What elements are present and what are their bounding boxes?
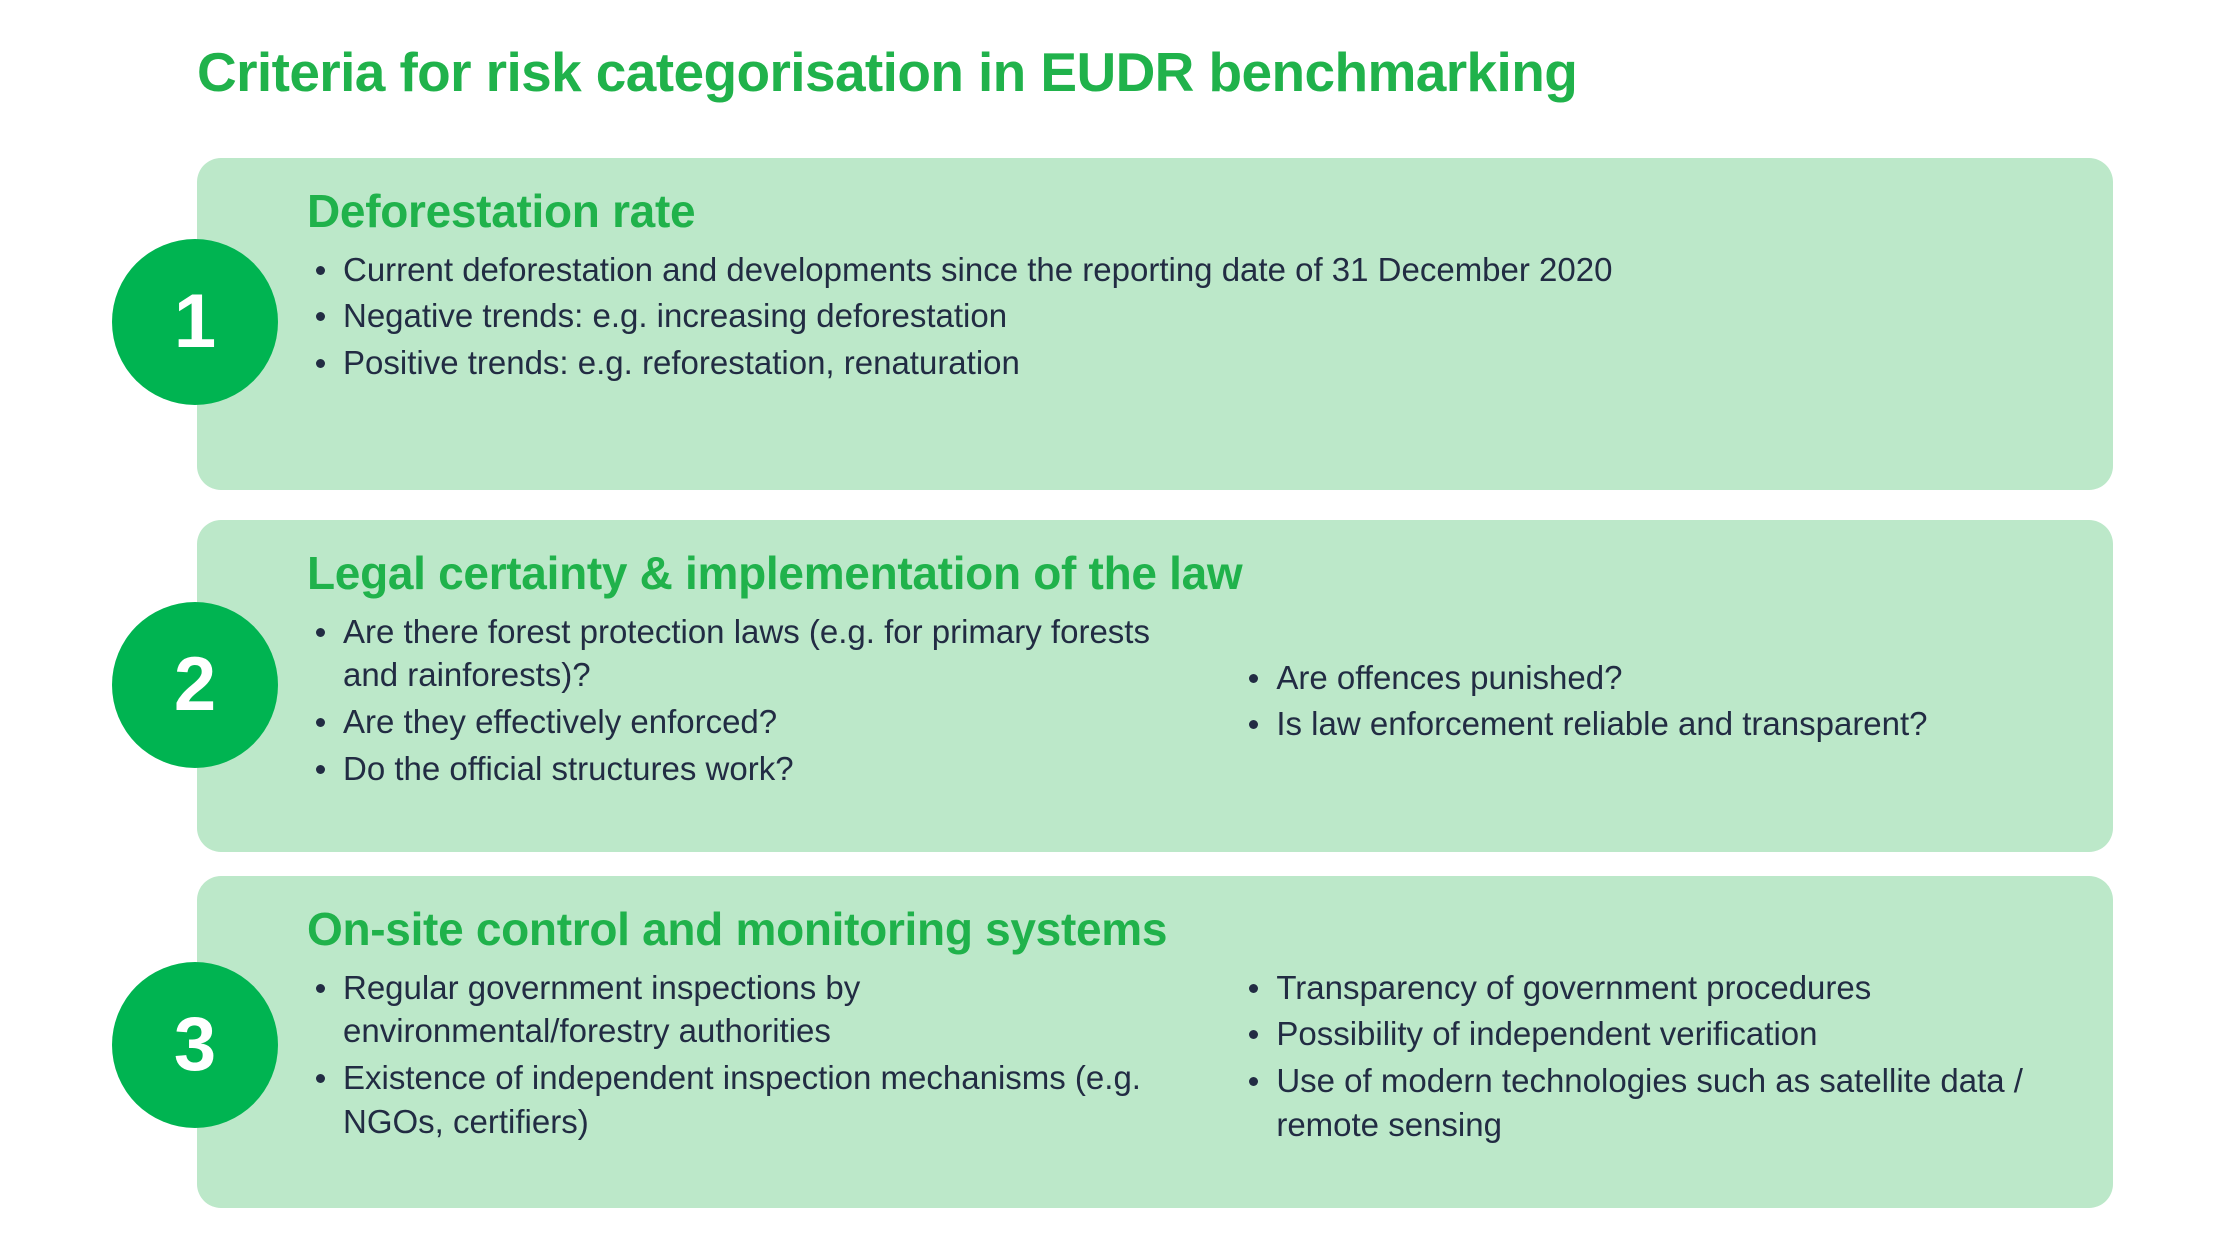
card-3-column-right: Transparency of government procedures Po… [1172,966,2073,1151]
step-number-badge-2: 2 [112,602,278,768]
infographic-root: Criteria for risk categorisation in EUDR… [0,0,2240,1260]
list-item: Are they effectively enforced? [307,700,1152,744]
card-2-column-left: Are there forest protection laws (e.g. f… [307,610,1172,795]
list-item: Regular government inspections by enviro… [307,966,1152,1054]
list-item: Are offences punished? [1240,656,2073,700]
list-item: Current deforestation and developments s… [307,248,2073,292]
card-3-content: On-site control and monitoring systems R… [307,904,2073,1150]
card-3-heading: On-site control and monitoring systems [307,904,2073,956]
list-item: Transparency of government procedures [1240,966,2073,1010]
card-2-column-right: Are offences punished? Is law enforcemen… [1172,610,2073,750]
list-item: Positive trends: e.g. reforestation, ren… [307,341,2073,385]
list-item: Are there forest protection laws (e.g. f… [307,610,1152,698]
card-1-heading: Deforestation rate [307,186,2073,238]
list-item: Is law enforcement reliable and transpar… [1240,702,2073,746]
card-2-bullet-list-right: Are offences punished? Is law enforcemen… [1240,610,2073,747]
list-item: Negative trends: e.g. increasing defores… [307,294,2073,338]
card-1-bullet-list-left: Current deforestation and developments s… [307,248,2073,386]
step-number-badge-3: 3 [112,962,278,1128]
card-3-columns: Regular government inspections by enviro… [307,966,2073,1151]
page-title: Criteria for risk categorisation in EUDR… [197,42,2097,103]
card-3-column-left: Regular government inspections by enviro… [307,966,1172,1148]
list-item: Use of modern technologies such as satel… [1240,1059,2073,1147]
criteria-card-2: Legal certainty & implementation of the … [197,520,2113,852]
list-item: Possibility of independent verification [1240,1012,2073,1056]
criteria-card-3: On-site control and monitoring systems R… [197,876,2113,1208]
card-3-bullet-list-right: Transparency of government procedures Po… [1240,966,2073,1148]
card-2-content: Legal certainty & implementation of the … [307,548,2073,794]
card-2-heading: Legal certainty & implementation of the … [307,548,2073,600]
card-1-columns: Current deforestation and developments s… [307,248,2073,389]
criteria-card-1: Deforestation rate Current deforestation… [197,158,2113,490]
card-2-bullet-list-left: Are there forest protection laws (e.g. f… [307,610,1152,792]
list-item: Do the official structures work? [307,747,1152,791]
list-item: Existence of independent inspection mech… [307,1056,1152,1144]
card-3-bullet-list-left: Regular government inspections by enviro… [307,966,1152,1145]
card-1-content: Deforestation rate Current deforestation… [307,186,2073,388]
card-1-column-left: Current deforestation and developments s… [307,248,2073,389]
card-2-columns: Are there forest protection laws (e.g. f… [307,610,2073,795]
step-number-badge-1: 1 [112,239,278,405]
